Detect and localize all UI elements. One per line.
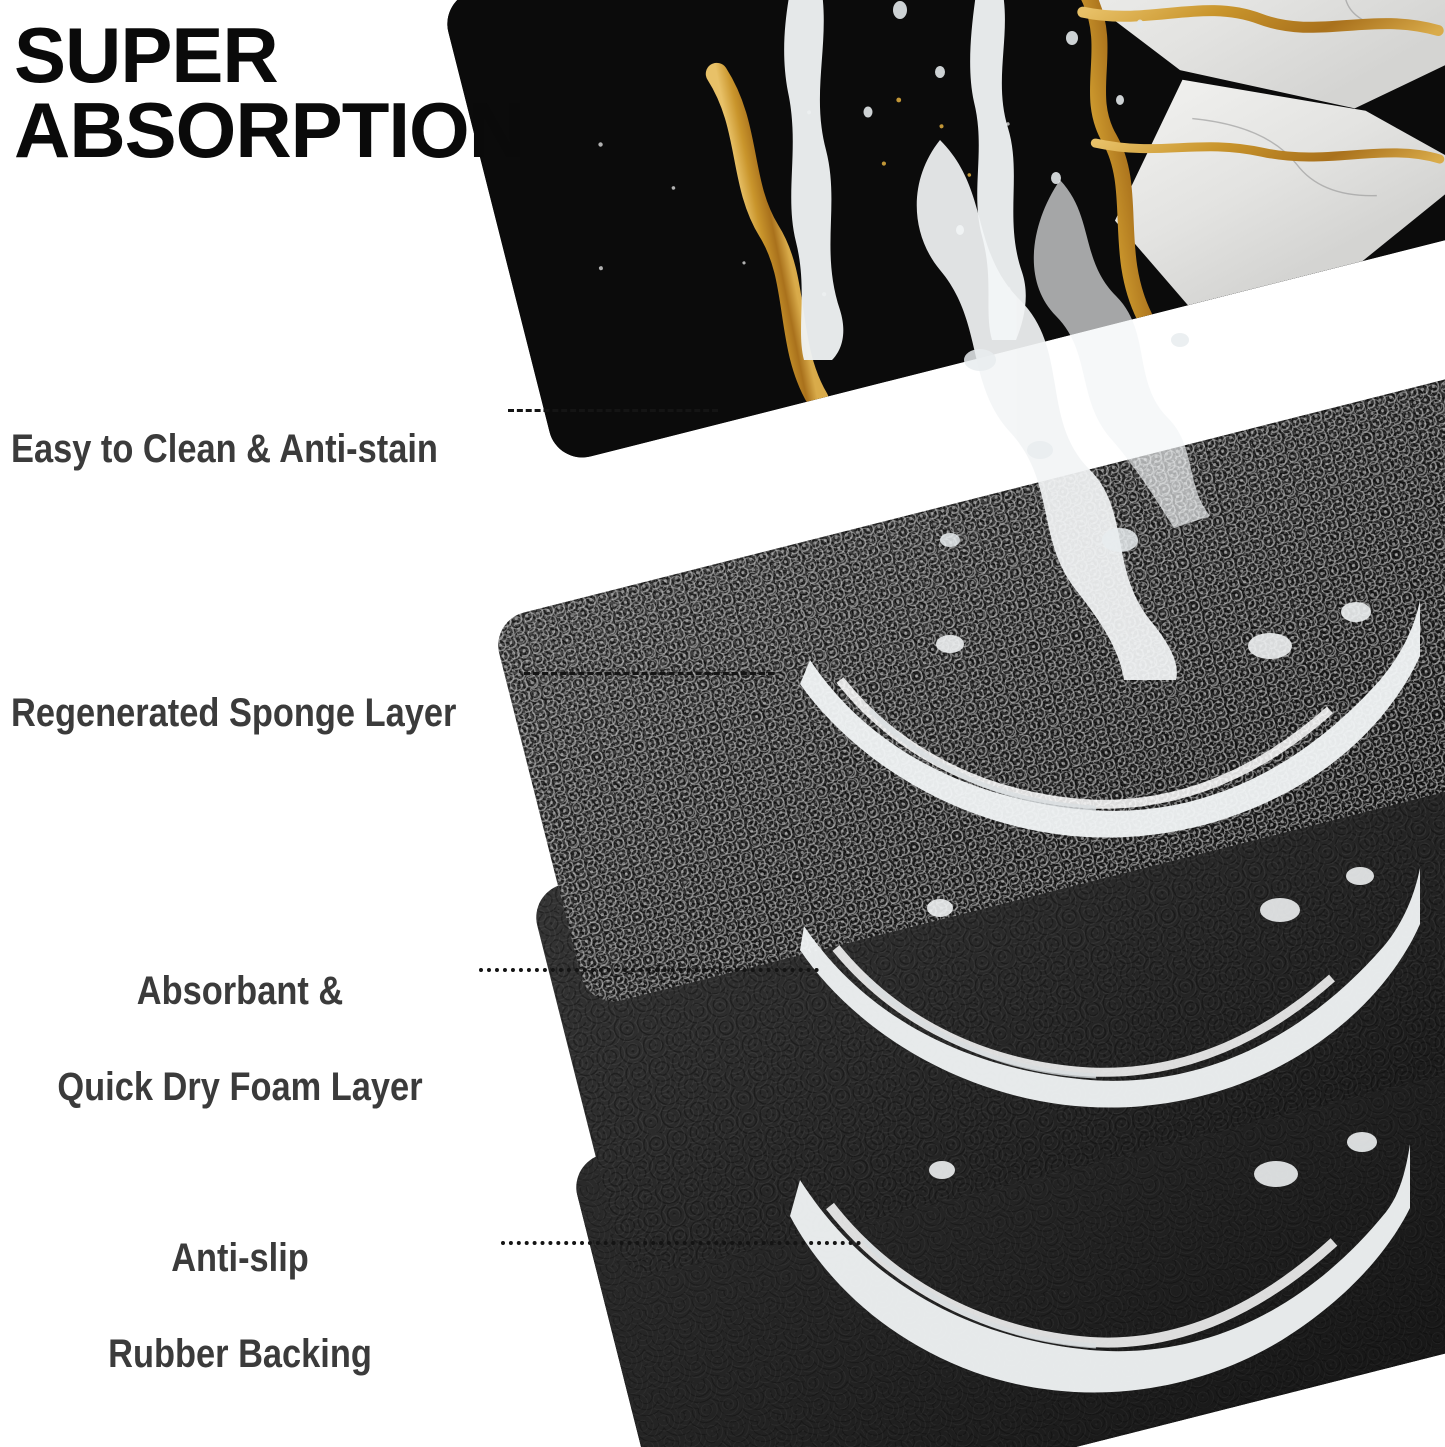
callout-regenerated-sponge-line-1: Regenerated Sponge Layer: [11, 692, 456, 734]
callout-easy-to-clean-line-1: Easy to Clean & Anti-stain: [11, 428, 438, 470]
callout-easy-to-clean: Easy to Clean & Anti-stain: [11, 386, 438, 513]
callout-absorbant-foam-line-2: Quick Dry Foam Layer: [51, 1063, 429, 1111]
leader-line-easy-to-clean: [508, 409, 718, 412]
leader-line-regenerated-sponge: [524, 672, 774, 675]
infographic-canvas: SUPER ABSORPTION Easy to Clean & Anti-st…: [0, 0, 1445, 1447]
page-title: SUPER ABSORPTION: [14, 18, 654, 168]
callout-anti-slip-rubber-line-2: Rubber Backing: [51, 1330, 429, 1378]
callout-anti-slip-rubber: Anti-slip Rubber Backing: [51, 1186, 429, 1426]
callout-anti-slip-rubber-line-1: Anti-slip: [51, 1234, 429, 1282]
leader-line-absorbant-foam: [479, 968, 819, 972]
callout-regenerated-sponge: Regenerated Sponge Layer: [11, 650, 456, 777]
callout-absorbant-foam: Absorbant & Quick Dry Foam Layer: [51, 919, 429, 1159]
leader-line-anti-slip-rubber: [501, 1241, 861, 1245]
callout-absorbant-foam-line-1: Absorbant &: [51, 967, 429, 1015]
